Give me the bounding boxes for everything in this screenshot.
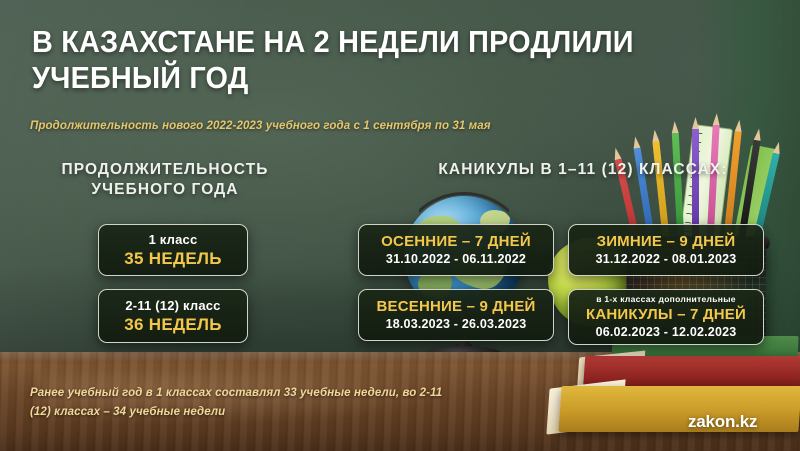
vacation-card-title: ОСЕННИЕ – 7 ДНЕЙ xyxy=(359,232,553,251)
subtitle: Продолжительность нового 2022-2023 учебн… xyxy=(30,120,590,132)
duration-card-grades2-11: 2-11 (12) класс 36 НЕДЕЛЬ xyxy=(98,289,248,343)
book-yellow xyxy=(558,386,800,432)
watermark-logo: zakon.kz xyxy=(688,412,757,432)
vacation-card-winter: ЗИМНИЕ – 9 ДНЕЙ 31.12.2022 - 08.01.2023 xyxy=(568,224,764,276)
vacation-card-title: ВЕСЕННИЕ – 9 ДНЕЙ xyxy=(359,297,553,316)
vacation-card-title: ЗИМНИЕ – 9 ДНЕЙ xyxy=(569,232,763,251)
vacation-card-note: в 1-х классах дополнительные xyxy=(569,293,763,305)
duration-card-value: 36 НЕДЕЛЬ xyxy=(99,314,247,335)
vacation-card-autumn: ОСЕННИЕ – 7 ДНЕЙ 31.10.2022 - 06.11.2022 xyxy=(358,224,554,276)
duration-card-value: 35 НЕДЕЛЬ xyxy=(99,248,247,269)
page-title: В КАЗАХСТАНЕ НА 2 НЕДЕЛИ ПРОДЛИЛИ УЧЕБНЫ… xyxy=(32,24,683,96)
section-heading-duration: ПРОДОЛЖИТЕЛЬНОСТЬ УЧЕБНОГО ГОДА xyxy=(20,160,310,200)
vacation-card-dates: 31.12.2022 - 08.01.2023 xyxy=(569,251,763,268)
footnote: Ранее учебный год в 1 классах составлял … xyxy=(30,384,450,422)
vacation-card-spring: ВЕСЕННИЕ – 9 ДНЕЙ 18.03.2023 - 26.03.202… xyxy=(358,289,554,341)
vacation-card-dates: 31.10.2022 - 06.11.2022 xyxy=(359,251,553,268)
duration-card-grade1: 1 класс 35 НЕДЕЛЬ xyxy=(98,224,248,276)
infographic-poster: В КАЗАХСТАНЕ НА 2 НЕДЕЛИ ПРОДЛИЛИ УЧЕБНЫ… xyxy=(0,0,800,451)
vacation-card-dates: 18.03.2023 - 26.03.2023 xyxy=(359,316,553,333)
duration-card-label: 2-11 (12) класс xyxy=(99,297,247,314)
vacation-card-title: КАНИКУЛЫ – 7 ДНЕЙ xyxy=(569,305,763,324)
vacation-card-extra-grade1: в 1-х классах дополнительные КАНИКУЛЫ – … xyxy=(568,289,764,345)
vacation-card-dates: 06.02.2023 - 12.02.2023 xyxy=(569,324,763,341)
section-heading-vacations: КАНИКУЛЫ В 1–11 (12) КЛАССАХ: xyxy=(438,160,728,180)
duration-card-label: 1 класс xyxy=(99,231,247,248)
